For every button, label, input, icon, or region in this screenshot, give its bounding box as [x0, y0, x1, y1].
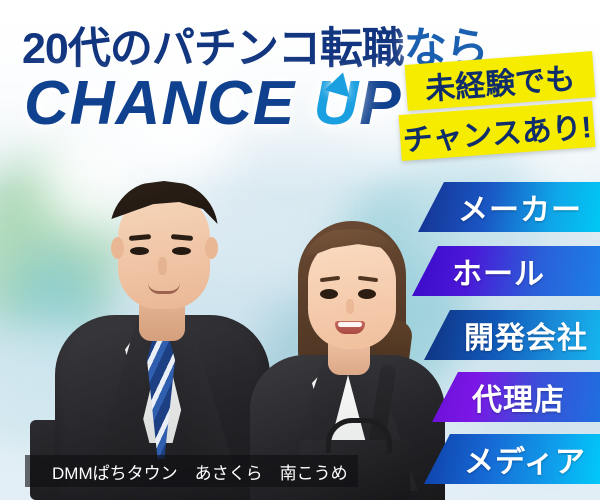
headline-main: 20代のパチンコ転職 [22, 25, 404, 73]
man-eye-left [130, 247, 149, 255]
category-label: ホール [452, 249, 545, 293]
category-button-media[interactable]: メディア [424, 434, 600, 484]
category-button-hall[interactable]: ホール [412, 246, 600, 296]
woman-eye-left [320, 289, 338, 299]
briefcase-handle [326, 418, 392, 453]
person-man [55, 165, 270, 500]
category-label: 代理店 [472, 375, 565, 419]
woman-nose [346, 299, 354, 314]
category-button-agency[interactable]: 代理店 [432, 372, 600, 422]
category-button-maker[interactable]: メーカー [418, 182, 600, 232]
recruitment-banner: 20代のパチンコ転職なら CHANCE UP 未経験でも チャンスあり! メーカ… [0, 0, 600, 500]
category-label: メーカー [458, 185, 582, 229]
woman-teeth [338, 322, 362, 327]
logo-letter-p: P [359, 69, 401, 138]
credit-text: DMMぱちタウン あさくら 南こうめ [52, 459, 348, 484]
man-eye-right [172, 247, 191, 255]
man-ear-right [205, 237, 218, 259]
category-button-development-company[interactable]: 開発会社 [424, 310, 600, 360]
logo-word-chance: CHANCE [24, 69, 295, 138]
man-nose [158, 257, 167, 275]
credit-bar: DMMぱちタウン あさくら 南こうめ [25, 455, 358, 487]
woman-eye-right [358, 289, 376, 299]
category-label: メディア [464, 437, 586, 481]
category-label: 開発会社 [464, 313, 588, 357]
man-ear-left [111, 237, 124, 259]
